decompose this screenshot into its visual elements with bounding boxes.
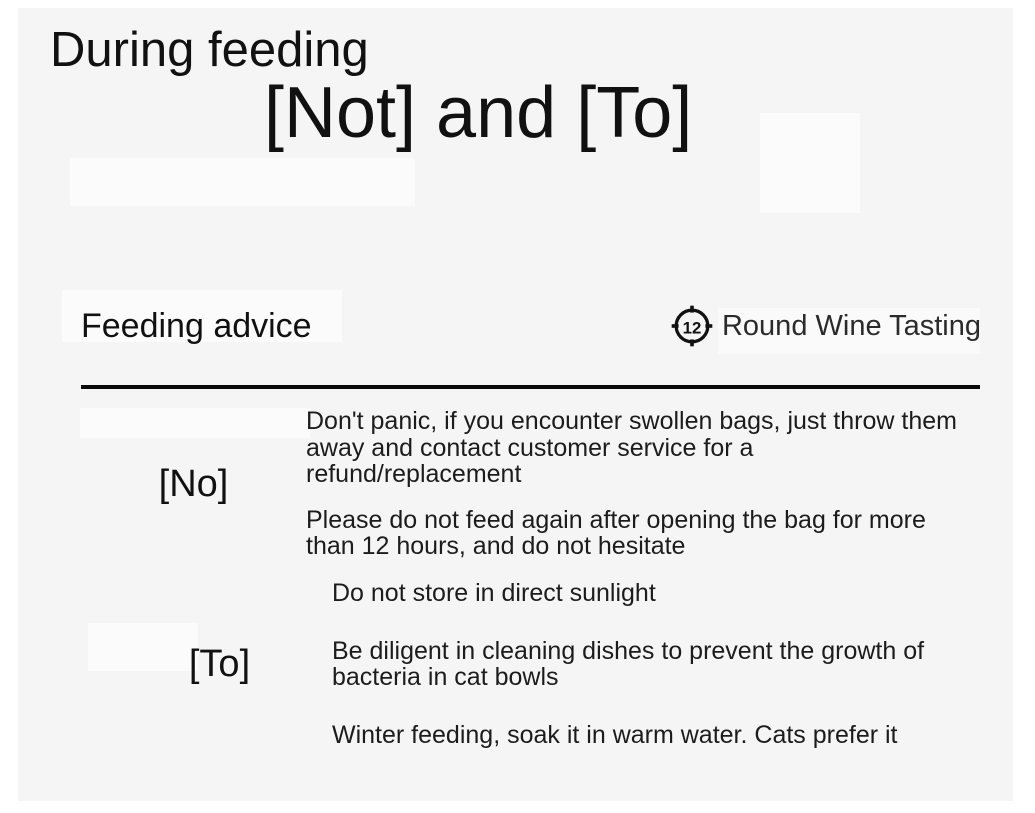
advice-item: Be diligent in cleaning dishes to preven… [332,638,980,691]
section-title: Feeding advice [81,309,312,343]
background-artifact [70,158,415,206]
table-row: [To] Do not store in direct sunlight Be … [81,568,980,760]
slide-canvas: During feeding [Not] and [To] Feeding ad… [18,8,1013,801]
advice-table: [No] Don't panic, if you encounter swoll… [81,400,980,760]
advice-item: Don't panic, if you encounter swollen ba… [306,408,966,487]
section-divider [81,385,980,389]
page-title: During feeding [50,24,369,77]
advice-item: Do not store in direct sunlight [332,580,980,606]
advice-item: Please do not feed again after opening t… [306,507,966,560]
row-label-no: [No] [81,465,306,503]
row-items-to: Do not store in direct sunlight Be dilig… [332,580,980,749]
timer-12-hour-icon: 12 [669,303,715,349]
badge-icon-number: 12 [683,318,702,337]
status-badge: 12 Round Wine Tasting [669,303,981,349]
advice-item: Winter feeding, soak it in warm water. C… [332,722,980,748]
page-subtitle: [Not] and [To] [264,76,692,152]
background-artifact [760,113,860,213]
badge-label: Round Wine Tasting [722,312,981,341]
table-row: [No] Don't panic, if you encounter swoll… [81,400,980,568]
row-items-no: Don't panic, if you encounter swollen ba… [306,408,980,559]
section-header: Feeding advice 12 Round Wine Tasting [81,300,981,352]
row-label-to: [To] [81,645,332,683]
